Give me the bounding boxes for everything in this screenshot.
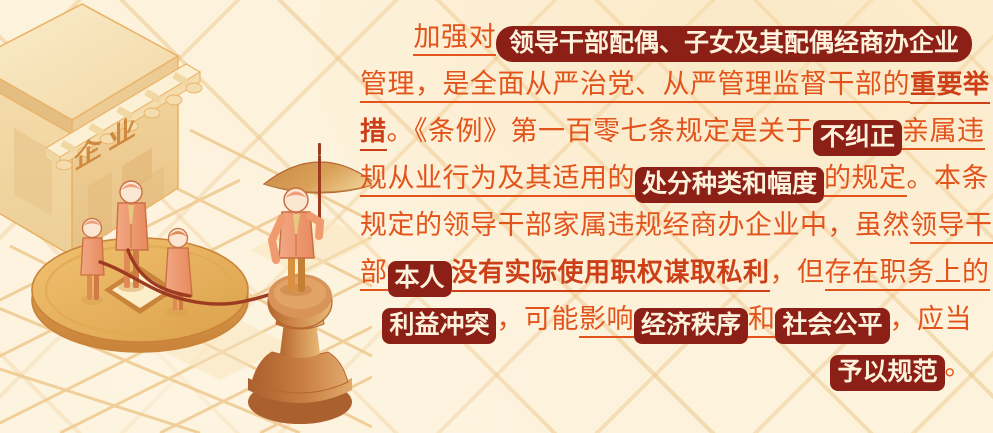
emphasis-bold-underline-text: 措 [360, 117, 387, 151]
emphasis-bold-underline-text: 重要举 [910, 70, 990, 104]
underlined-text: 加强对 [413, 22, 496, 56]
paragraph-line: 利益冲突，可能影响经济秩序和社会公平，应当 [360, 296, 972, 343]
highlight-badge[interactable]: 处分种类和幅度 [635, 167, 824, 203]
underlined-text: 存在职务上的 [825, 257, 990, 291]
plain-text: 。《条例》第一百零七条规定是关于 [387, 116, 814, 146]
official-figure-with-umbrella [264, 143, 372, 296]
plain-text: ，但 [770, 257, 825, 287]
plain-text: 规定的领导干部家属违规经商办企业中，虽然 [360, 210, 910, 240]
plain-text: 。 [945, 351, 973, 381]
underlined-text: 规从业行为及其适用的 [360, 163, 635, 197]
highlight-badge[interactable]: 社会公平 [775, 308, 889, 344]
paragraph-line: 管理，是全面从严治党、从严管理监督干部的重要举 [360, 61, 972, 108]
underlined-text: 影响 [579, 304, 634, 338]
underlined-text: 和 [748, 304, 776, 338]
highlight-badge[interactable]: 利益冲突 [382, 308, 496, 344]
highlight-badge[interactable]: 经济秩序 [634, 308, 748, 344]
paragraph-line: 规定的领导干部家属违规经商办企业中，虽然领导干 [360, 202, 972, 249]
highlight-badge[interactable]: 不纠正 [813, 120, 902, 156]
paragraph-line: 予以规范。 [360, 343, 972, 390]
plain-text: ，应当 [890, 304, 973, 334]
highlight-badge[interactable]: 本人 [388, 261, 452, 297]
paragraph-line: 规从业行为及其适用的处分种类和幅度的规定。本条 [360, 155, 972, 202]
poster-canvas: 企业 [0, 0, 993, 433]
underlined-text: 的规定 [824, 163, 907, 197]
plain-text: ，可能 [496, 304, 579, 334]
illustration-panel: 企业 [0, 0, 372, 433]
paragraph-line: 措。《条例》第一百零七条规定是关于不纠正亲属违 [360, 108, 972, 155]
highlight-badge[interactable]: 领导干部配偶、子女及其配偶经商办企业 [496, 26, 972, 62]
underlined-text: 管理，是全面从严治党、从严管理监督干部的 [360, 69, 910, 103]
paragraph-line: 部本人没有实际使用职权谋取私利，但存在职务上的 [360, 249, 972, 296]
highlight-badge[interactable]: 予以规范 [830, 355, 944, 391]
gold-coin-platform [32, 238, 248, 352]
underlined-text: 部 [360, 257, 388, 291]
emphasis-bold-underline-text: 没有实际使用职权谋取私利 [452, 258, 770, 292]
paragraph-line: 加强对领导干部配偶、子女及其配偶经商办企业 [360, 14, 972, 61]
underlined-text: 领导干 [910, 210, 993, 244]
plain-text: 。本条 [907, 163, 990, 193]
shop-building: 企业 [0, 4, 202, 256]
underlined-text: 亲属违 [902, 116, 985, 150]
paragraph-text-block: 加强对领导干部配偶、子女及其配偶经商办企业管理，是全面从严治党、从严管理监督干部… [360, 14, 972, 390]
